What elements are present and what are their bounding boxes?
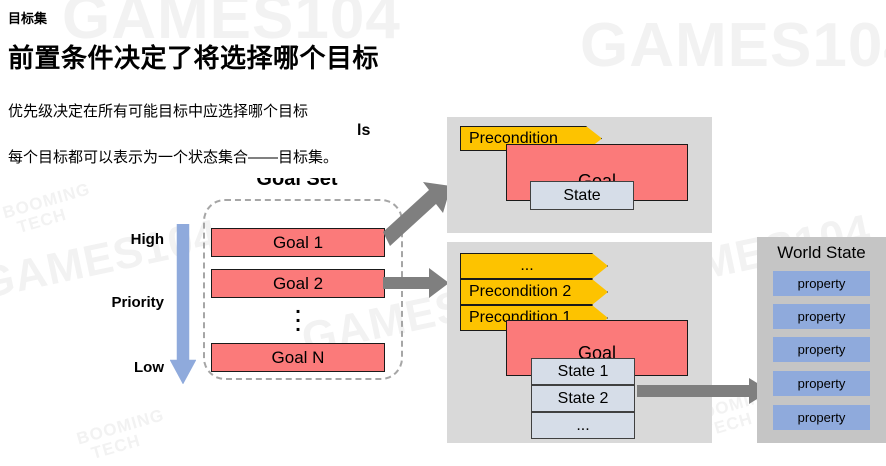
watermark-studio-line1: BOOMING bbox=[75, 405, 167, 448]
goal-set-title-text: Goal Set bbox=[232, 178, 362, 191]
property-label: property bbox=[798, 276, 846, 291]
watermark-brand-2: GAMES104 bbox=[580, 10, 886, 81]
state-label: ... bbox=[576, 417, 589, 435]
diagonal-arrow-icon bbox=[383, 182, 451, 246]
slide-stray-text: ls bbox=[357, 122, 370, 140]
state-label: State bbox=[563, 187, 600, 205]
slide-body-line-1: 优先级决定在所有可能目标中应选择哪个目标 bbox=[8, 100, 308, 121]
state-label: State 1 bbox=[558, 363, 609, 381]
goal-list-ellipsis: ... bbox=[211, 303, 385, 330]
precondition-label: Precondition 2 bbox=[469, 283, 571, 301]
goal-set-title: Goal Set bbox=[232, 178, 362, 194]
property-label: property bbox=[798, 309, 846, 324]
priority-high-label: High bbox=[110, 231, 164, 248]
right-arrow-icon bbox=[637, 378, 770, 404]
state-label: State 2 bbox=[558, 390, 609, 408]
goal-box-2[interactable]: Goal 2 bbox=[211, 269, 385, 298]
watermark-studio-line2: TECH bbox=[15, 197, 97, 236]
watermark-studio-2: BOOMING TECH bbox=[75, 406, 171, 465]
state-box-1[interactable]: State 1 bbox=[531, 358, 635, 385]
goal-label: Goal N bbox=[272, 348, 325, 368]
property-label: property bbox=[798, 376, 846, 391]
watermark-studio-line2: TECH bbox=[89, 423, 171, 462]
watermark-studio-1: BOOMING TECH bbox=[1, 180, 97, 239]
property-label: property bbox=[798, 342, 846, 357]
state-box-ellipsis[interactable]: ... bbox=[531, 412, 635, 439]
world-property-2[interactable]: property bbox=[773, 304, 870, 329]
slide-kicker: 目标集 bbox=[8, 8, 47, 27]
precondition-chevron-2[interactable]: Precondition 2 bbox=[460, 279, 608, 305]
property-label: property bbox=[798, 410, 846, 425]
precondition-label: ... bbox=[520, 257, 533, 275]
priority-axis-label: Priority bbox=[86, 294, 164, 311]
goal-label: Goal 2 bbox=[273, 274, 323, 294]
priority-low-label: Low bbox=[112, 359, 164, 376]
slide-body-line-2: 每个目标都可以表示为一个状态集合——目标集。 bbox=[8, 146, 338, 167]
page-title: 前置条件决定了将选择哪个目标 bbox=[8, 38, 379, 75]
world-state-title: World State bbox=[757, 243, 886, 263]
world-property-5[interactable]: property bbox=[773, 405, 870, 430]
watermark-studio-line1: BOOMING bbox=[1, 179, 93, 222]
world-property-3[interactable]: property bbox=[773, 337, 870, 362]
world-property-4[interactable]: property bbox=[773, 371, 870, 396]
goal-box-n[interactable]: Goal N bbox=[211, 343, 385, 372]
down-arrow-icon bbox=[170, 224, 196, 384]
goal-box-1[interactable]: Goal 1 bbox=[211, 228, 385, 257]
state-box-2[interactable]: State 2 bbox=[531, 385, 635, 412]
precondition-chevron-ellipsis[interactable]: ... bbox=[460, 253, 608, 279]
right-arrow-icon bbox=[383, 268, 449, 298]
state-box-top[interactable]: State bbox=[530, 181, 634, 210]
goal-label: Goal 1 bbox=[273, 233, 323, 253]
world-property-1[interactable]: property bbox=[773, 271, 870, 296]
